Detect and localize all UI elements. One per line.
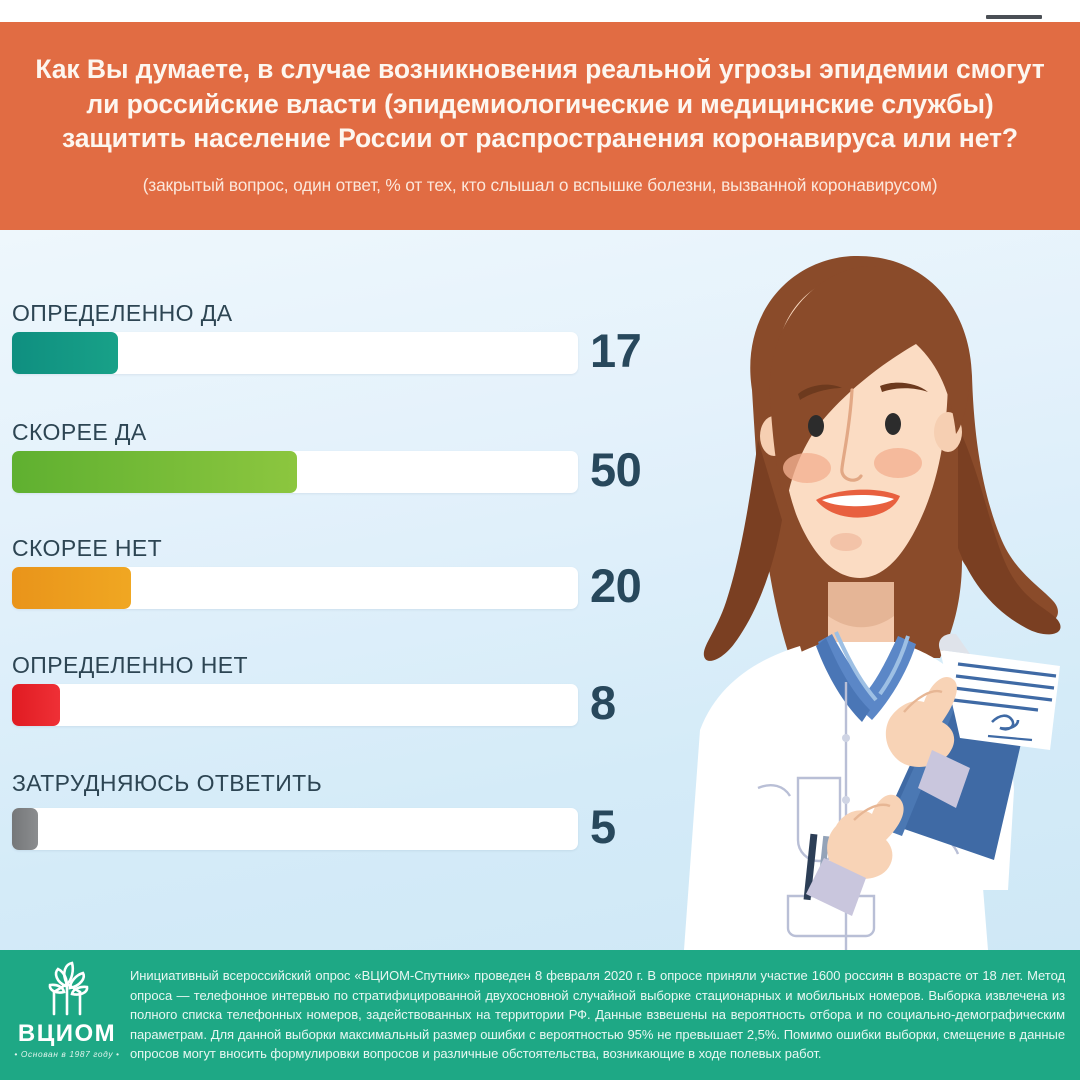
eye-right xyxy=(885,413,901,435)
vciom-logo: ВЦИОМ • Основан в 1987 году • xyxy=(14,958,120,1070)
bar-track xyxy=(12,332,578,374)
bar-track xyxy=(12,451,578,493)
bar-label: ЗАТРУДНЯЮСЬ ОТВЕТИТЬ xyxy=(12,770,322,797)
bar-fill xyxy=(12,451,297,493)
bar-value: 5 xyxy=(590,806,616,848)
bar-value: 17 xyxy=(590,330,641,372)
bar-label: ОПРЕДЕЛЕННО ДА xyxy=(12,300,232,327)
cheek-right xyxy=(874,448,922,478)
methodology-text: Инициативный всероссийский опрос «ВЦИОМ-… xyxy=(130,966,1065,1064)
bar-label: ОПРЕДЕЛЕННО НЕТ xyxy=(12,652,248,679)
bar-label: СКОРЕЕ ДА xyxy=(12,419,147,446)
top-gray-mark xyxy=(986,15,1042,19)
coat-button-2 xyxy=(842,796,850,804)
bar-value: 50 xyxy=(590,449,641,491)
doctor-illustration xyxy=(640,230,1080,950)
bar-fill xyxy=(12,808,38,850)
bar-track xyxy=(12,808,578,850)
bar-track xyxy=(12,684,578,726)
bar-value: 20 xyxy=(590,565,641,607)
bar-fill xyxy=(12,684,60,726)
footer: ВЦИОМ • Основан в 1987 году • Инициативн… xyxy=(0,950,1080,1080)
page-title: Как Вы думаете, в случае возникновения р… xyxy=(22,52,1058,155)
bar-track xyxy=(12,567,578,609)
logo-established: • Основан в 1987 году • xyxy=(14,1049,120,1059)
chin-shade xyxy=(830,533,862,551)
question-header: Как Вы думаете, в случае возникновения р… xyxy=(0,22,1080,230)
cheek-left xyxy=(783,453,831,483)
bar-value: 8 xyxy=(590,682,616,724)
tree-icon xyxy=(14,958,120,1018)
bar-fill xyxy=(12,332,118,374)
top-white-strip xyxy=(0,0,1080,22)
bar-fill xyxy=(12,567,131,609)
infographic-poster: Как Вы думаете, в случае возникновения р… xyxy=(0,0,1080,1080)
horizontal-bar-chart: ОПРЕДЕЛЕННО ДА 17 СКОРЕЕ ДА 50 СКОРЕЕ НЕ… xyxy=(0,230,680,950)
question-subtitle: (закрытый вопрос, один ответ, % от тех, … xyxy=(143,175,938,196)
eye-left xyxy=(808,415,824,437)
coat-button-1 xyxy=(842,734,850,742)
logo-wordmark: ВЦИОМ xyxy=(14,1020,120,1048)
neck-shadow xyxy=(828,582,894,627)
chart-area: ОПРЕДЕЛЕННО ДА 17 СКОРЕЕ ДА 50 СКОРЕЕ НЕ… xyxy=(0,230,1080,950)
bar-label: СКОРЕЕ НЕТ xyxy=(12,535,162,562)
